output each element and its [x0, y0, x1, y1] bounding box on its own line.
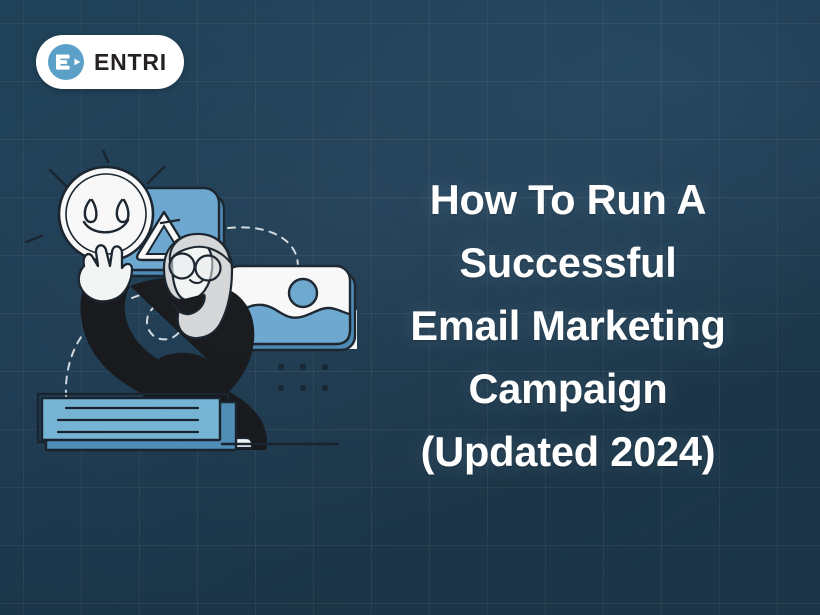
blog-cover-canvas: ENTRI How To Run A Successful Email Mark… — [0, 0, 820, 615]
title-line-5: (Updated 2024) — [338, 420, 798, 483]
entri-logo-wordmark: ENTRI — [94, 51, 167, 74]
entri-e-play-icon — [47, 43, 85, 81]
document-stack-icon — [38, 394, 236, 450]
title-line-4: Campaign — [338, 357, 798, 420]
title-line-1: How To Run A — [338, 168, 798, 231]
title-line-2: Successful — [338, 231, 798, 294]
page-title: How To Run A Successful Email Marketing … — [338, 168, 798, 483]
entri-logo[interactable]: ENTRI — [36, 35, 184, 89]
title-line-3: Email Marketing — [338, 294, 798, 357]
email-marketing-idea-illustration — [22, 150, 362, 470]
